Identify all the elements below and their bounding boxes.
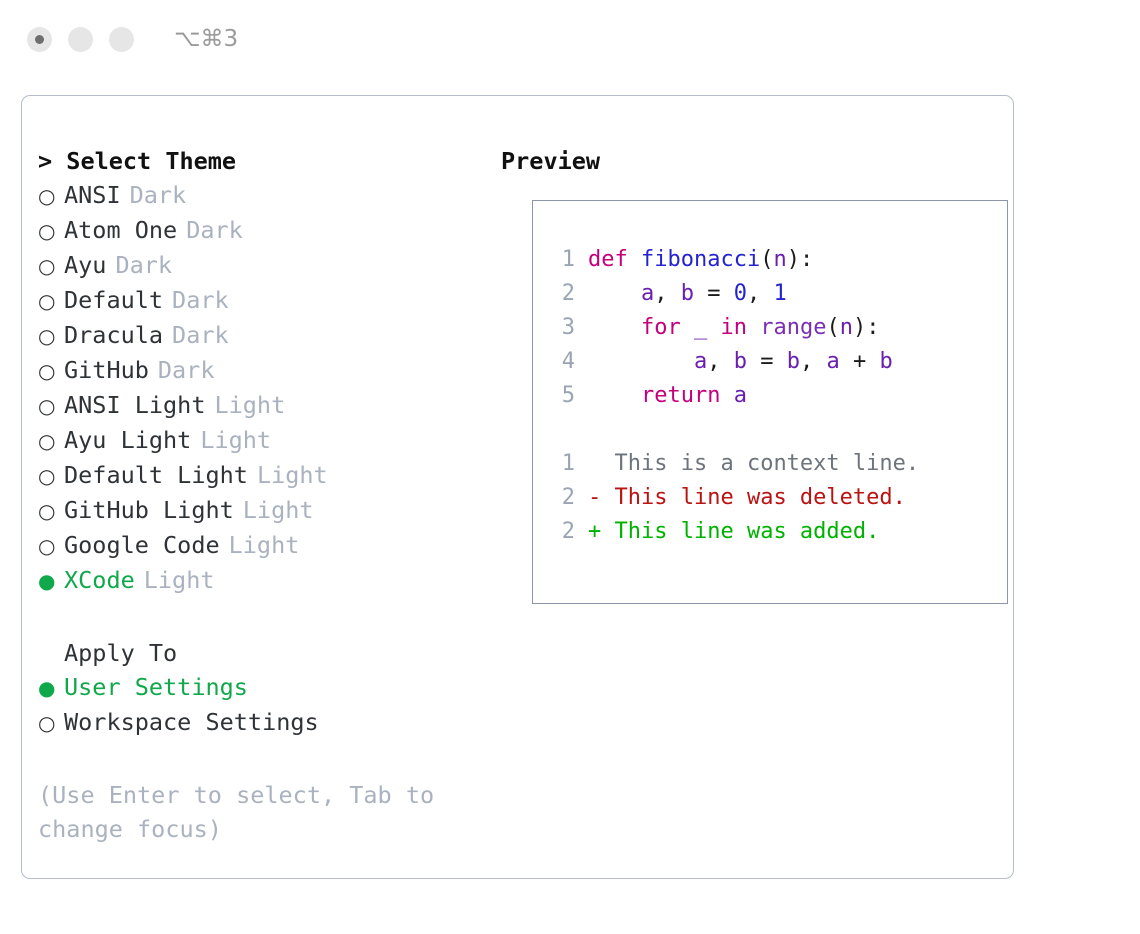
radio-unselected-icon: ○ — [38, 529, 64, 563]
theme-list-item[interactable]: ○Atom OneDark — [38, 213, 488, 248]
code-token: b — [879, 349, 892, 374]
code-token: ): — [853, 315, 880, 340]
code-line: 4 a, b = b, a + b — [549, 345, 999, 379]
code-line: 3 for _ in range(n): — [549, 311, 999, 345]
code-token — [747, 315, 760, 340]
theme-variant: Dark — [186, 213, 243, 247]
diff-marker: - — [588, 481, 615, 515]
theme-list-item[interactable]: ○DraculaDark — [38, 318, 488, 353]
apply-to-label: Workspace Settings — [64, 705, 319, 739]
theme-name: GitHub Light — [64, 493, 234, 527]
theme-list-item[interactable]: ○Ayu LightLight — [38, 423, 488, 458]
code-token: ): — [787, 247, 814, 272]
diff-content: This is a context line. — [615, 447, 920, 481]
code-content: def fibonacci(n): — [588, 243, 813, 277]
keyboard-hint-text: (Use Enter to select, Tab to change focu… — [38, 778, 438, 846]
diff-marker: + — [588, 515, 615, 549]
theme-name: Dracula — [64, 318, 163, 352]
apply-to-heading: Apply To — [38, 636, 488, 670]
code-token: a — [641, 281, 654, 306]
theme-list-item-selected[interactable]: ●XCodeLight — [38, 563, 488, 598]
radio-unselected-icon: ○ — [38, 179, 64, 213]
theme-name: Atom One — [64, 213, 177, 247]
maximize-button[interactable] — [109, 27, 134, 52]
theme-variant: Light — [200, 423, 271, 457]
code-token: def — [588, 247, 628, 272]
code-token: = — [694, 281, 734, 306]
code-token: , — [707, 349, 734, 374]
radio-selected-icon: ● — [38, 564, 64, 598]
code-line: 1def fibonacci(n): — [549, 243, 999, 277]
code-token: a — [826, 349, 839, 374]
radio-unselected-icon: ○ — [38, 494, 64, 528]
radio-unselected-icon: ○ — [38, 706, 64, 740]
theme-picker-panel: > Select Theme ○ANSIDark ○Atom OneDark ○… — [21, 95, 1014, 879]
code-token — [720, 383, 733, 408]
code-diff-separator — [549, 413, 999, 447]
diff-line-context: 1 This is a context line. — [549, 447, 999, 481]
line-number: 1 — [549, 447, 575, 481]
theme-name: Default Light — [64, 458, 248, 492]
code-token — [588, 281, 641, 306]
theme-variant: Light — [257, 458, 328, 492]
app-window: ⌥⌘3 > Select Theme ○ANSIDark ○Atom OneDa… — [0, 0, 1140, 934]
code-preview: 1def fibonacci(n): 2 a, b = 0, 1 3 for _… — [549, 243, 999, 549]
radio-unselected-icon: ○ — [38, 389, 64, 423]
radio-selected-icon: ● — [38, 671, 64, 705]
theme-variant: Dark — [172, 283, 229, 317]
apply-to-item-selected[interactable]: ●User Settings — [38, 670, 488, 705]
select-theme-heading: > Select Theme — [38, 144, 488, 178]
code-token — [707, 315, 720, 340]
theme-name: GitHub — [64, 353, 149, 387]
apply-to-section: Apply To ●User Settings ○Workspace Setti… — [38, 636, 488, 740]
minimize-button[interactable] — [68, 27, 93, 52]
code-token: in — [720, 315, 747, 340]
code-token — [681, 315, 694, 340]
window-titlebar: ⌥⌘3 — [0, 0, 1140, 78]
theme-variant: Dark — [130, 178, 187, 212]
code-token: , — [747, 281, 774, 306]
panel-body: > Select Theme ○ANSIDark ○Atom OneDark ○… — [22, 96, 1013, 878]
diff-line-added: 2+ This line was added. — [549, 515, 999, 549]
preview-box: 1def fibonacci(n): 2 a, b = 0, 1 3 for _… — [532, 200, 1008, 604]
code-token — [588, 383, 641, 408]
traffic-light-group — [27, 27, 134, 52]
diff-marker — [588, 447, 615, 481]
line-number: 2 — [549, 481, 575, 515]
radio-unselected-icon: ○ — [38, 249, 64, 283]
radio-unselected-icon: ○ — [38, 319, 64, 353]
close-dot-icon — [35, 35, 44, 44]
select-theme-title: Select Theme — [66, 147, 236, 175]
theme-variant: Dark — [115, 248, 172, 282]
code-token: return — [641, 383, 720, 408]
line-number: 1 — [549, 243, 575, 277]
theme-name: Ayu Light — [64, 423, 191, 457]
line-number: 5 — [549, 379, 575, 413]
theme-variant: Light — [243, 493, 314, 527]
theme-variant: Light — [144, 563, 215, 597]
code-token: b — [787, 349, 800, 374]
theme-name: ANSI — [64, 178, 121, 212]
theme-variant: Light — [229, 528, 300, 562]
code-token: ( — [760, 247, 773, 272]
code-token — [588, 315, 641, 340]
theme-name: ANSI Light — [64, 388, 205, 422]
radio-unselected-icon: ○ — [38, 424, 64, 458]
radio-unselected-icon: ○ — [38, 354, 64, 388]
theme-list-item[interactable]: ○GitHubDark — [38, 353, 488, 388]
close-button[interactable] — [27, 27, 52, 52]
line-number: 2 — [549, 277, 575, 311]
apply-to-label: User Settings — [64, 670, 248, 704]
code-token: , — [654, 281, 681, 306]
code-token: + — [840, 349, 880, 374]
line-number: 2 — [549, 515, 575, 549]
preview-column: Preview 1def fibonacci(n): 2 a, b = 0, 1… — [501, 144, 1001, 178]
theme-list: ○ANSIDark ○Atom OneDark ○AyuDark ○Defaul… — [38, 178, 488, 598]
theme-list-item[interactable]: ○AyuDark — [38, 248, 488, 283]
theme-name: XCode — [64, 563, 135, 597]
theme-list-item[interactable]: ○Google CodeLight — [38, 528, 488, 563]
keyboard-shortcut-label: ⌥⌘3 — [174, 28, 238, 51]
radio-unselected-icon: ○ — [38, 214, 64, 248]
code-token: = — [747, 349, 787, 374]
theme-variant: Dark — [158, 353, 215, 387]
code-token: _ — [694, 315, 707, 340]
code-content: a, b = 0, 1 — [588, 277, 787, 311]
radio-unselected-icon: ○ — [38, 459, 64, 493]
code-content: a, b = b, a + b — [588, 345, 893, 379]
code-token: n — [773, 247, 786, 272]
code-token: a — [694, 349, 707, 374]
code-token: for — [641, 315, 681, 340]
code-token: b — [681, 281, 694, 306]
theme-variant: Dark — [172, 318, 229, 352]
apply-to-list: ●User Settings ○Workspace Settings — [38, 670, 488, 740]
code-token: n — [840, 315, 853, 340]
code-token: a — [734, 383, 747, 408]
diff-line-deleted: 2- This line was deleted. — [549, 481, 999, 515]
line-number: 3 — [549, 311, 575, 345]
code-token: range — [760, 315, 826, 340]
theme-selection-column: > Select Theme ○ANSIDark ○Atom OneDark ○… — [38, 144, 488, 846]
code-content: for _ in range(n): — [588, 311, 879, 345]
theme-list-item[interactable]: ○Default LightLight — [38, 458, 488, 493]
code-token: ( — [826, 315, 839, 340]
code-line: 2 a, b = 0, 1 — [549, 277, 999, 311]
theme-list-item[interactable]: ○ANSI LightLight — [38, 388, 488, 423]
theme-list-item[interactable]: ○GitHub LightLight — [38, 493, 488, 528]
code-line: 5 return a — [549, 379, 999, 413]
apply-to-item[interactable]: ○Workspace Settings — [38, 705, 488, 740]
code-token: 1 — [773, 281, 786, 306]
theme-variant: Light — [214, 388, 285, 422]
code-token: , — [800, 349, 827, 374]
diff-content: This line was deleted. — [615, 481, 906, 515]
theme-name: Default — [64, 283, 163, 317]
radio-unselected-icon: ○ — [38, 284, 64, 318]
prompt-caret-icon: > — [38, 147, 66, 175]
line-number: 4 — [549, 345, 575, 379]
code-token — [628, 247, 641, 272]
code-token: 0 — [734, 281, 747, 306]
diff-content: This line was added. — [615, 515, 880, 549]
theme-name: Ayu — [64, 248, 106, 282]
code-content: return a — [588, 379, 747, 413]
code-token: fibonacci — [641, 247, 760, 272]
code-token: b — [734, 349, 747, 374]
theme-name: Google Code — [64, 528, 220, 562]
code-token — [588, 349, 694, 374]
theme-list-item[interactable]: ○DefaultDark — [38, 283, 488, 318]
theme-list-item[interactable]: ○ANSIDark — [38, 178, 488, 213]
preview-heading: Preview — [501, 144, 1001, 178]
